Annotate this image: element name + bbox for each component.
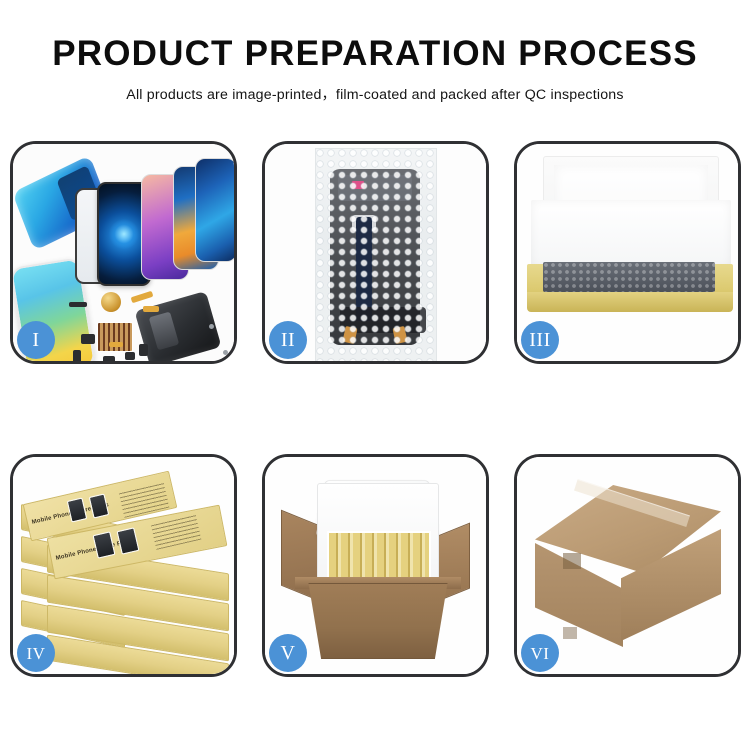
- process-step-panel-5: V: [262, 454, 489, 677]
- process-step-panel-4: Mobile Phone Spare Parts Mobile Phone Sp…: [10, 454, 237, 677]
- carton-tab-graphic: [563, 627, 577, 639]
- chip-graphic: [139, 344, 148, 356]
- step-number-badge-2: II: [269, 321, 307, 359]
- step-number-badge-1: I: [17, 321, 55, 359]
- header: PRODUCT PREPARATION PROCESS All products…: [0, 36, 750, 104]
- page-subtitle: All products are image-printed，film-coat…: [0, 84, 750, 104]
- yellow-box-front-panel-graphic: [527, 292, 733, 312]
- speaker-module-graphic: [101, 292, 121, 312]
- flex-cable-graphic: [109, 342, 123, 347]
- carton-tab-graphic: [563, 553, 581, 569]
- flex-cable-graphic: [143, 306, 159, 312]
- chip-graphic: [73, 350, 81, 361]
- process-step-panel-1: I: [10, 141, 237, 364]
- foam-sheet-graphic: [531, 200, 731, 268]
- step-number-badge-6: VI: [521, 634, 559, 672]
- process-steps-grid: I: [10, 141, 741, 681]
- box-stack-graphic: Mobile Phone Spare Parts Mobile Phone Sp…: [21, 471, 233, 667]
- process-step-panel-3: III: [514, 141, 741, 364]
- product-preparation-infographic: PRODUCT PREPARATION PROCESS All products…: [0, 0, 750, 750]
- bubble-wrapped-contents-graphic: [543, 262, 715, 292]
- page-title: PRODUCT PREPARATION PROCESS: [0, 36, 750, 73]
- chip-graphic: [81, 334, 95, 344]
- chip-graphic: [125, 352, 135, 360]
- step-number-badge-3: III: [521, 321, 559, 359]
- screw-graphic: [209, 324, 214, 329]
- screen-teal-wallpaper-graphic: [195, 158, 234, 262]
- process-step-panel-6: VI: [514, 454, 741, 677]
- step-number-badge-5: V: [269, 634, 307, 672]
- flex-cable-graphic: [131, 291, 154, 304]
- chip-graphic: [69, 302, 87, 307]
- bubble-wrap-bag-graphic: [315, 148, 437, 361]
- bubble-texture-graphic: [316, 149, 436, 361]
- step-number-badge-4: IV: [17, 634, 55, 672]
- yellow-boxes-inside-graphic: [327, 531, 431, 579]
- process-step-panel-2: II: [262, 141, 489, 364]
- copper-mesh-graphic: [97, 322, 133, 352]
- carton-body-graphic: [299, 583, 457, 659]
- chip-graphic: [103, 356, 115, 361]
- screw-graphic: [223, 350, 228, 355]
- screw-graphic: [217, 360, 222, 361]
